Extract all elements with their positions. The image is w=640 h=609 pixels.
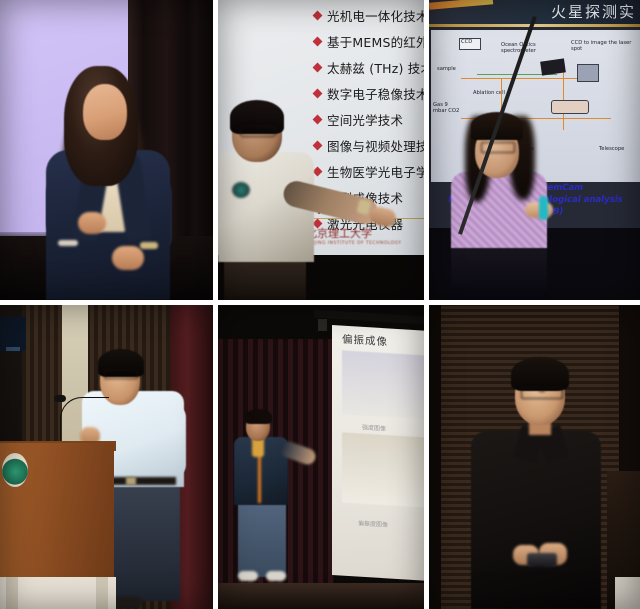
photo-panel-top-right: 火星探测实 CCD Ocean Optics spectrometer samp… (429, 0, 640, 300)
diamond-bullet-icon (313, 166, 323, 176)
photo-panel-bottom-center: 偏振成像 强度图像 偏振度图像 (218, 305, 424, 609)
slide-image-top (342, 350, 424, 419)
label-telescope: Telescope (599, 146, 624, 152)
slide-university-logo: 北京理工大学 BEIJING INSTITUTE OF TECHNOLOGY (306, 225, 401, 246)
photo-panel-bottom-left (0, 305, 213, 609)
photo-panel-top-left (0, 0, 213, 300)
diamond-bullet-icon (313, 10, 323, 20)
label-ccd-laser-spot: CCD to image the laser spot (571, 40, 633, 52)
speaker-hair (245, 409, 272, 424)
list-item: 光机电一体化技术 (314, 2, 424, 28)
slide-image-bottom (342, 432, 424, 507)
list-item: 空间光学技术 (314, 106, 424, 132)
bracelet (58, 240, 78, 246)
list-item: 生物医学光电子学 (314, 158, 424, 184)
diamond-bullet-icon (313, 140, 323, 150)
white-object (615, 577, 640, 609)
speaker-lower-body (451, 240, 547, 300)
diamond-bullet-icon (313, 114, 323, 124)
list-item: 基于MEMS的红外成像 (314, 28, 424, 54)
speaker-shoe-right (266, 571, 286, 581)
photo-panel-bottom-right (429, 305, 640, 609)
eyeglasses-icon (521, 387, 563, 399)
wall-left-edge (429, 305, 441, 609)
speaker-jeans (238, 501, 286, 577)
microphone-head-icon (54, 395, 66, 402)
eyeglasses-icon (240, 126, 276, 137)
diamond-bullet-icon (313, 36, 323, 46)
speaker-shoe-left (238, 571, 258, 581)
slide-title: 偏振成像 (342, 332, 388, 350)
optics-diagram: CCD Ocean Optics spectrometer sample Abl… (431, 30, 640, 182)
presentation-remote (527, 553, 557, 567)
slide-divider (429, 24, 640, 27)
university-name: 北京理工大学 (306, 227, 372, 240)
list-item: 图像与视频处理技术 (314, 132, 424, 158)
list-item: 太赫兹 (THz) 技术 (314, 54, 424, 80)
screen-handle (6, 347, 20, 351)
computer-monitor (577, 64, 599, 82)
university-name-en: BEIJING INSTITUTE OF TECHNOLOGY (306, 241, 401, 246)
photo-collage: 光机电一体化技术 基于MEMS的红外成像 太赫兹 (THz) 技术 数字电子稳像… (0, 0, 640, 609)
wall-screen (0, 317, 26, 351)
eyeglasses-icon (104, 369, 138, 379)
bullet-text: 生物医学光电子学 (327, 162, 424, 181)
laser-tube (551, 100, 589, 114)
university-emblem-icon (2, 453, 28, 487)
label-sample: sample (437, 66, 456, 72)
diamond-bullet-icon (313, 88, 323, 98)
bullet-text: 图像与视频处理技术 (327, 136, 424, 155)
stage-floor (218, 583, 424, 609)
screen-mount (318, 319, 327, 331)
bullet-text: 基于MEMS的红外成像 (327, 32, 424, 51)
speaker-hand-left (78, 212, 106, 234)
speaker-hand-right (112, 246, 144, 270)
belt-buckle (126, 477, 136, 485)
slide-caption-top: 强度图像 (362, 422, 386, 432)
bullet-text: 太赫兹 (THz) 技术 (327, 58, 424, 77)
wristwatch (140, 242, 158, 249)
podium-leg-left (6, 577, 18, 609)
pointer-grip (539, 196, 548, 220)
chest-badge-icon (232, 182, 250, 198)
speaker-face (83, 84, 127, 140)
beam-path-h1 (461, 78, 591, 79)
bullet-text: 数字电子稳像技术 (327, 84, 424, 103)
eyeglasses-bridge-icon (539, 391, 545, 392)
label-ccd: CCD (461, 39, 472, 45)
diamond-bullet-icon (313, 62, 323, 72)
label-gas: Gas 9 mbar CO2 (433, 102, 463, 114)
bullet-text: 空间光学技术 (327, 110, 403, 129)
list-item: 数字电子稳像技术 (314, 80, 424, 106)
photo-panel-top-center: 光机电一体化技术 基于MEMS的红外成像 太赫兹 (THz) 技术 数字电子稳像… (218, 0, 424, 300)
slide-caption-bottom: 偏振度图像 (358, 518, 388, 529)
spectrometer-device (540, 58, 566, 75)
speaker-hair (511, 357, 569, 391)
microphone-gooseneck (60, 397, 109, 444)
slide-title: 火星探测实 (551, 1, 636, 22)
bullet-text: 光机电一体化技术 (327, 6, 424, 25)
podium-leg-right (96, 577, 108, 609)
